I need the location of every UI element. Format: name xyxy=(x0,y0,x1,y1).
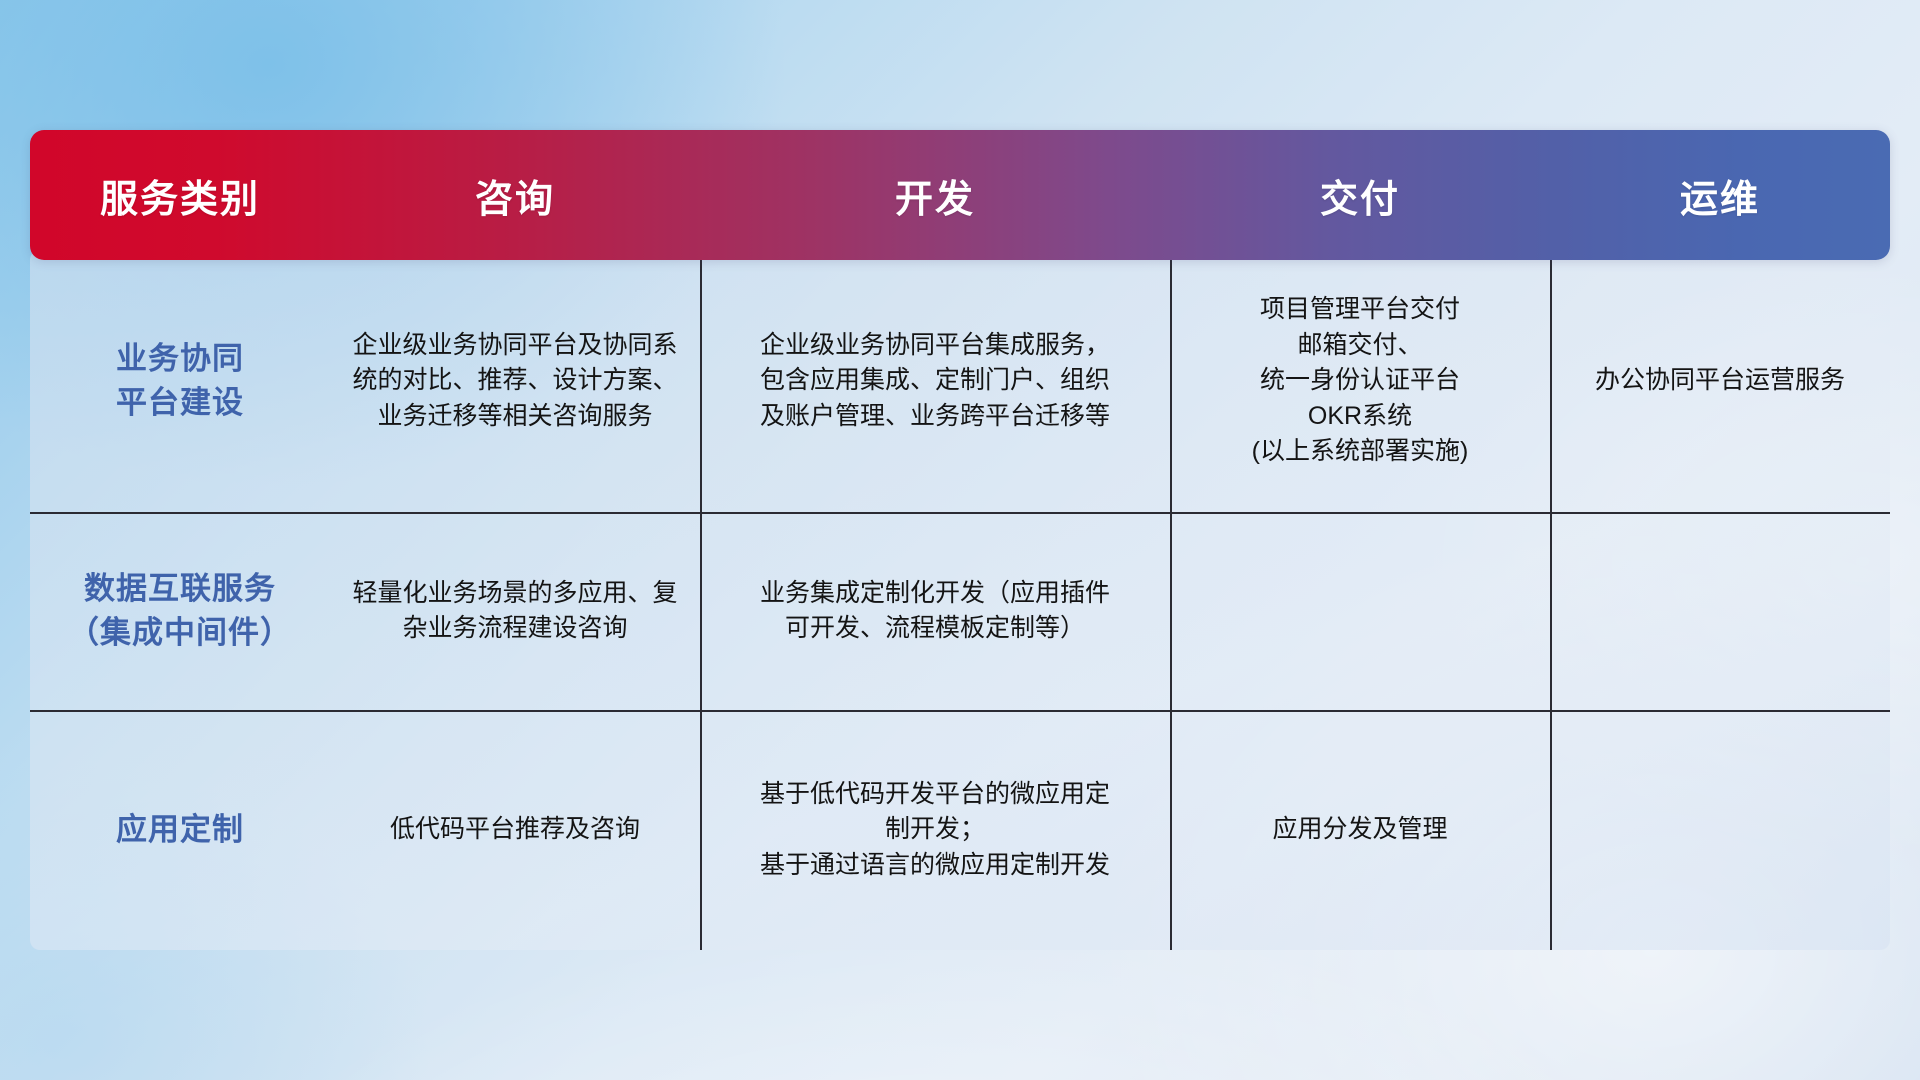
row-label-application-customization: 应用定制 xyxy=(30,710,330,950)
column-header-development: 开发 xyxy=(700,168,1170,223)
column-header-operations: 运维 xyxy=(1550,168,1890,223)
cell-row1-delivery: 项目管理平台交付 邮箱交付、 统一身份认证平台 OKR系统 (以上系统部署实施) xyxy=(1170,250,1550,512)
column-header-category: 服务类别 xyxy=(30,168,330,223)
service-matrix-table: 服务类别 咨询 开发 交付 运维 业务协同 平台建设 企业级业务协同平台及协同系… xyxy=(30,130,1890,950)
cell-row2-consulting: 轻量化业务场景的多应用、复 杂业务流程建设咨询 xyxy=(330,512,700,710)
column-header-delivery: 交付 xyxy=(1170,168,1550,223)
row-label-business-collaboration: 业务协同 平台建设 xyxy=(30,250,330,512)
table-header-row: 服务类别 咨询 开发 交付 运维 xyxy=(30,130,1890,260)
cell-row1-development: 企业级业务协同平台集成服务， 包含应用集成、定制门户、组织 及账户管理、业务跨平… xyxy=(700,250,1170,512)
cell-row3-consulting: 低代码平台推荐及咨询 xyxy=(330,710,700,950)
column-header-consulting: 咨询 xyxy=(330,168,700,223)
cell-row3-development: 基于低代码开发平台的微应用定 制开发； 基于通过语言的微应用定制开发 xyxy=(700,710,1170,950)
cell-row2-operations xyxy=(1550,512,1890,710)
cell-row2-development: 业务集成定制化开发（应用插件 可开发、流程模板定制等） xyxy=(700,512,1170,710)
cell-row3-operations xyxy=(1550,710,1890,950)
cell-row1-consulting: 企业级业务协同平台及协同系 统的对比、推荐、设计方案、 业务迁移等相关咨询服务 xyxy=(330,250,700,512)
cell-row1-operations: 办公协同平台运营服务 xyxy=(1550,250,1890,512)
row-label-data-interconnection: 数据互联服务 （集成中间件） xyxy=(30,512,330,710)
cell-row2-delivery xyxy=(1170,512,1550,710)
cell-row3-delivery: 应用分发及管理 xyxy=(1170,710,1550,950)
